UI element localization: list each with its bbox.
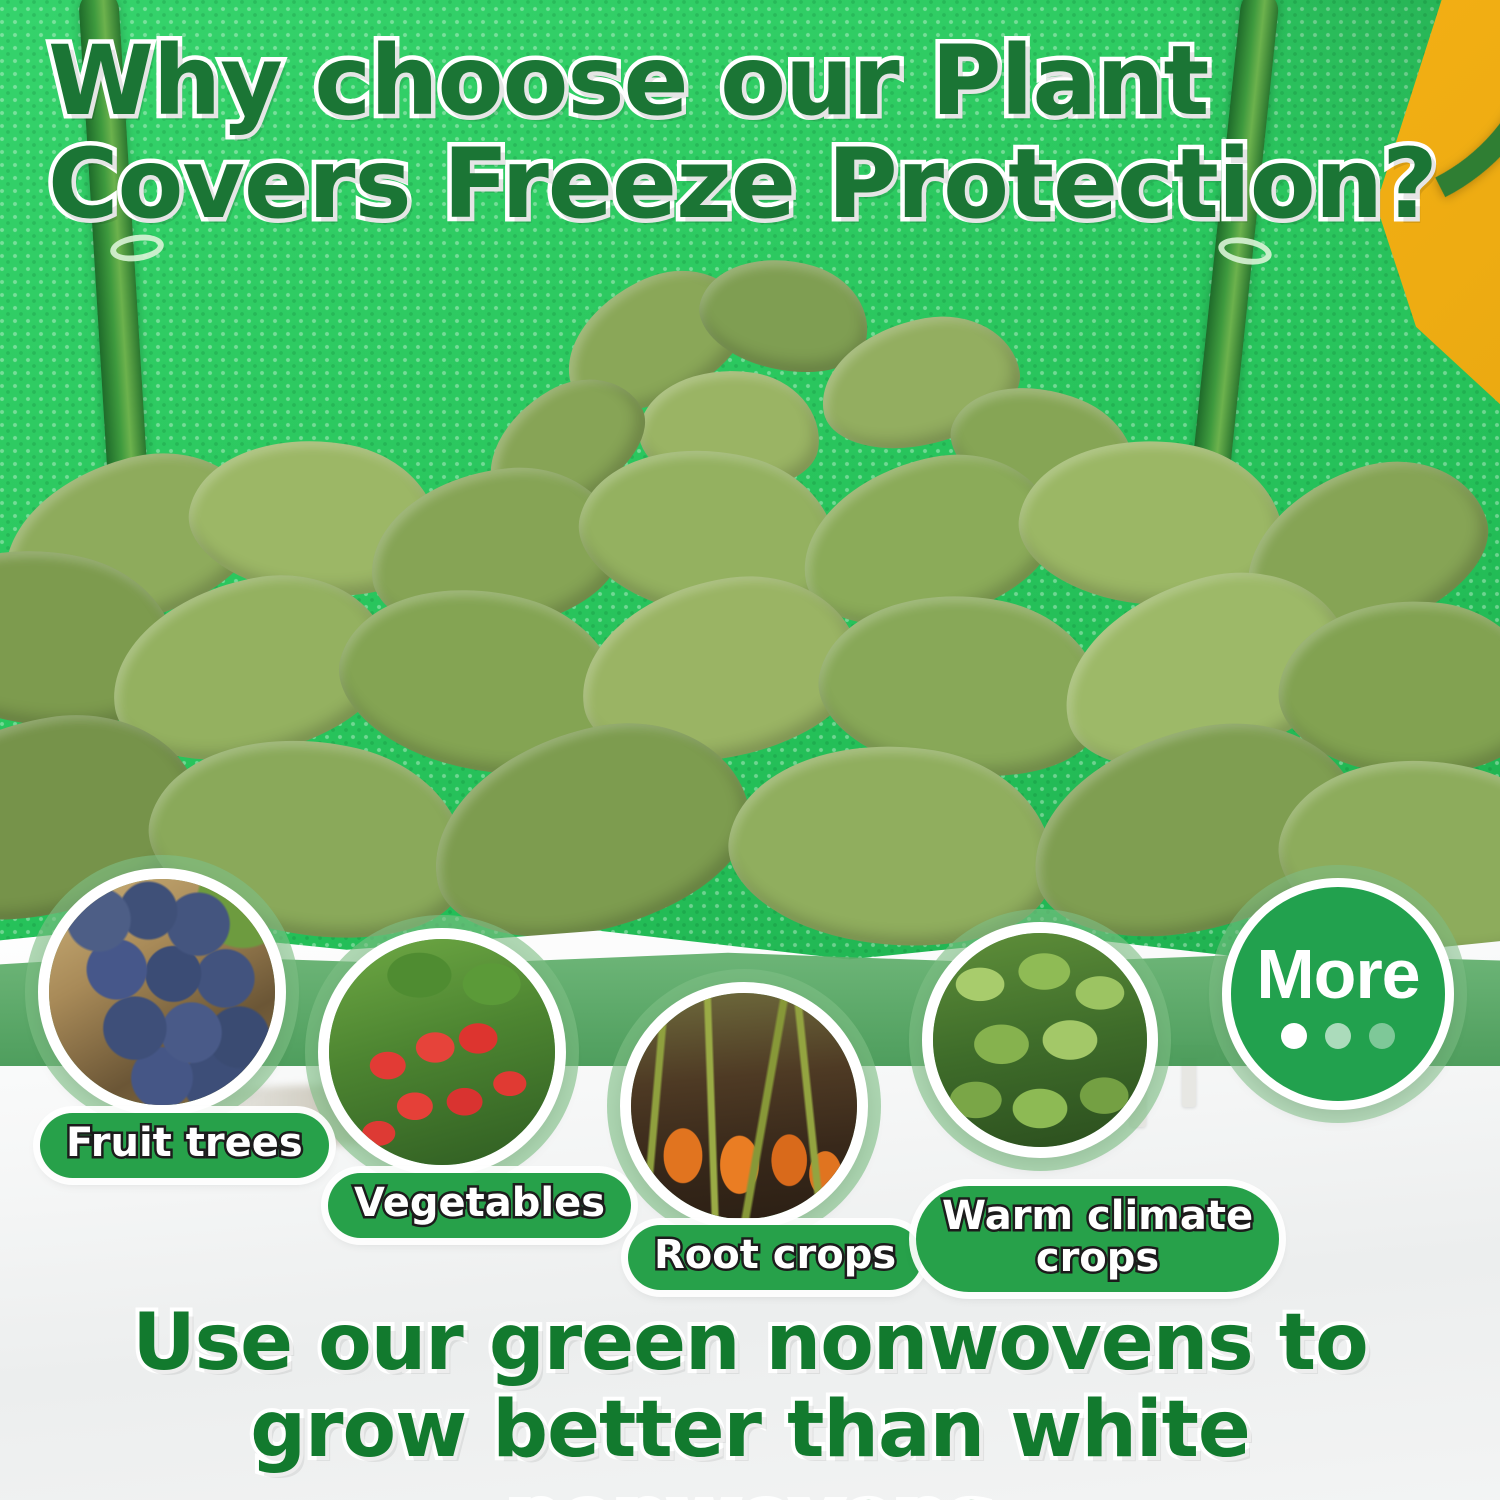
category-circle-fruit-trees[interactable] bbox=[38, 868, 286, 1116]
category-circle-root-crops[interactable] bbox=[620, 982, 868, 1230]
category-label-vegetables: Vegetables bbox=[328, 1173, 631, 1238]
more-button-label: More bbox=[1256, 939, 1419, 1009]
category-circle-vegetables[interactable] bbox=[318, 928, 566, 1176]
product-infographic: Why choose our Plant Covers Freeze Prote… bbox=[0, 0, 1500, 1500]
grapes-photo bbox=[49, 879, 275, 1105]
category-label-warm-climate-crops: Warm climate crops bbox=[916, 1186, 1279, 1292]
page-title: Why choose our Plant Covers Freeze Prote… bbox=[48, 30, 1468, 235]
page-title-line-2: Covers Freeze Protection? bbox=[48, 133, 1468, 236]
footer-slogan-line-2: grow better than white nonwovens bbox=[0, 1387, 1500, 1500]
leafy-greens-photo bbox=[933, 933, 1147, 1147]
page-title-line-1: Why choose our Plant bbox=[48, 25, 1208, 137]
carrots-in-soil-photo bbox=[631, 993, 857, 1219]
more-button[interactable]: More bbox=[1222, 878, 1454, 1110]
strawberries-photo bbox=[329, 939, 555, 1165]
footer-slogan: Use our green nonwovens to grow better t… bbox=[0, 1300, 1500, 1500]
more-dots-icon bbox=[1281, 1023, 1395, 1049]
category-label-fruit-trees: Fruit trees bbox=[40, 1113, 329, 1178]
category-label-root-crops: Root crops bbox=[628, 1225, 922, 1290]
footer-slogan-line-1: Use our green nonwovens to bbox=[132, 1298, 1367, 1388]
category-circle-warm-climate-crops[interactable] bbox=[922, 922, 1158, 1158]
